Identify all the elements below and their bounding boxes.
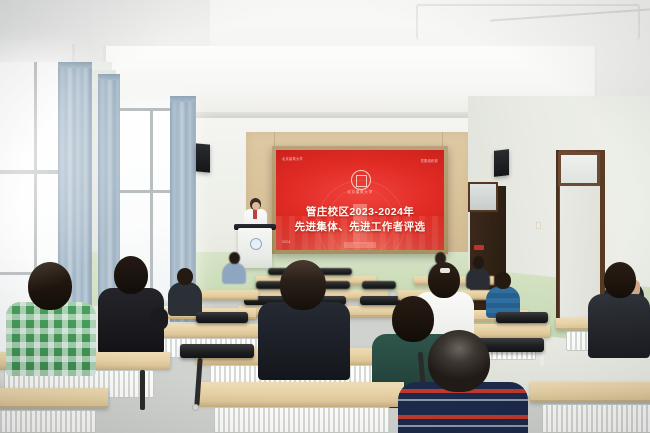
table-modesty-panel [214, 407, 390, 433]
table-modesty-panel [542, 404, 650, 433]
attendee-torso [588, 294, 650, 358]
chair-caster [192, 404, 199, 411]
wall-speaker-left [196, 143, 210, 172]
attendee-torso [258, 302, 350, 380]
attendee-head [229, 252, 240, 264]
attendee-head [604, 262, 636, 298]
attendee-arm [150, 308, 168, 330]
presentation-title-line1: 管庄校区2023-2024年 [276, 204, 444, 219]
curtain-header [170, 96, 196, 102]
attendee-black-top [98, 256, 164, 352]
meeting-room-photo: 北京建筑大学 管庄校区2023-2024年 先进集体、先进工作者评选 北京建筑大… [0, 0, 650, 433]
attendee-head [177, 268, 193, 285]
wall-speaker-right [494, 149, 509, 177]
light-switch[interactable] [536, 222, 541, 229]
student-table [198, 382, 404, 404]
attendee-white-tee [588, 262, 650, 356]
attendee-dark-navy [258, 260, 350, 376]
led-display-screen[interactable]: 北京建筑大学 管庄校区2023-2024年 先进集体、先进工作者评选 北京建筑大… [272, 146, 448, 254]
attendee-head [28, 262, 72, 310]
side-door-window [468, 182, 498, 212]
door-transom-window [558, 152, 600, 186]
student-table [0, 388, 108, 408]
conference-chair [180, 344, 254, 358]
student-table [530, 382, 650, 402]
attendee-green-plaid [6, 262, 96, 374]
attendee-blue-shirt [486, 272, 520, 316]
university-emblem-subtext: 北京建筑大学 [328, 190, 392, 195]
table-leg [140, 370, 145, 410]
screen-corner-mark-top-left: 北京建筑大学 [282, 156, 303, 161]
ceiling-track-rail [416, 4, 640, 40]
attendee-torso [222, 262, 246, 284]
conference-chair [496, 312, 548, 323]
attendee-head [473, 256, 484, 269]
attendee-torso [168, 282, 202, 316]
attendee-head [495, 272, 511, 289]
table-modesty-panel [0, 410, 96, 433]
exit-sign [474, 245, 484, 250]
podium-emblem [250, 238, 262, 250]
presentation-title-line2: 先进集体、先进工作者评选 [276, 219, 444, 234]
attendee-head [280, 260, 326, 310]
conference-chair [196, 312, 248, 323]
attendee-blue-far [222, 252, 246, 282]
screen-corner-mark-bottom-left: 2024 [282, 240, 290, 244]
conference-chair [362, 281, 396, 289]
curtain-header [58, 62, 92, 68]
attendee-head [114, 256, 148, 294]
hair-clip [440, 268, 450, 273]
window-mullion [0, 170, 62, 174]
attendee-torso [6, 302, 96, 376]
screen-corner-mark-top-right: 党委组织部 [421, 158, 438, 163]
attendee-striped-navy [398, 330, 528, 433]
presenter-face [252, 202, 260, 210]
presenter-lanyard [253, 210, 257, 219]
attendee-seated-front [168, 268, 202, 314]
university-emblem [351, 170, 371, 190]
curtain-header [98, 74, 120, 80]
attendee-head [428, 330, 490, 392]
